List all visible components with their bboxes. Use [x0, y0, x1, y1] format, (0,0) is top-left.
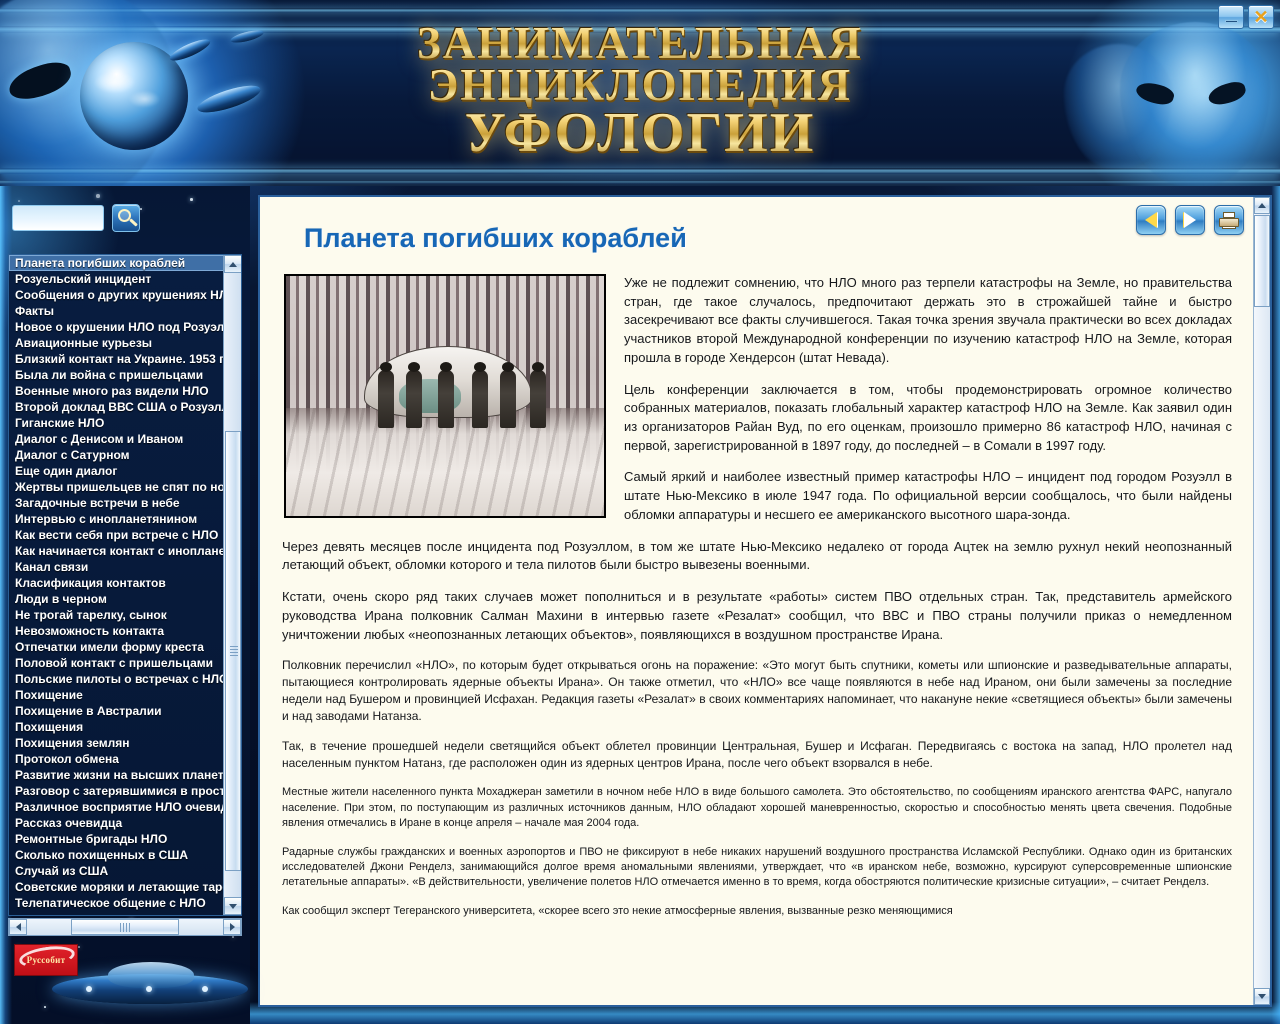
app-title: ЗАНИМАТЕЛЬНАЯ ЭНЦИКЛОПЕДИЯ УФОЛОГИИ — [0, 22, 1280, 159]
search-input[interactable] — [12, 205, 104, 231]
banner-stripe — [0, 168, 1280, 174]
topic-list-item[interactable]: Авиационные курьезы — [9, 335, 225, 351]
page-title: Планета погибших кораблей — [304, 223, 1232, 254]
star-decoration — [190, 198, 193, 201]
topic-list-item[interactable]: Польские пилоты о встречах с НЛО — [9, 671, 225, 687]
chevron-left-icon — [16, 923, 21, 931]
photo-person — [438, 370, 454, 428]
topic-list[interactable]: Планета погибших кораблейРозуельский инц… — [8, 254, 242, 916]
star-decoration — [232, 936, 234, 938]
hscroll-track[interactable] — [27, 919, 223, 935]
photo-person — [406, 370, 422, 428]
minimize-button[interactable] — [1218, 5, 1244, 29]
topic-list-items: Планета погибших кораблейРозуельский инц… — [9, 255, 225, 915]
chevron-right-icon — [230, 923, 235, 931]
article-paragraph: Радарные службы гражданских и военных аэ… — [282, 845, 1232, 891]
scroll-down-button[interactable] — [224, 897, 242, 915]
content-scroll-thumb[interactable] — [1254, 215, 1270, 307]
app-banner: ЗАНИМАТЕЛЬНАЯ ЭНЦИКЛОПЕДИЯ УФОЛОГИИ ✕ — [0, 0, 1280, 186]
topic-list-item[interactable]: Военные много раз видели НЛО — [9, 383, 225, 399]
article-photo — [284, 274, 606, 518]
content-scrollbar[interactable] — [1253, 197, 1270, 1005]
topic-list-item[interactable]: Невозможность контакта — [9, 623, 225, 639]
content-scroll-down-button[interactable] — [1254, 988, 1270, 1005]
magnifier-handle-icon — [129, 218, 138, 226]
topic-list-item[interactable]: Различное восприятие НЛО очевидцами — [9, 799, 225, 815]
topic-list-item[interactable]: Планета погибших кораблей — [9, 255, 225, 271]
topic-list-item[interactable]: Люди в черном — [9, 591, 225, 607]
star-decoration — [96, 194, 100, 198]
search-button[interactable] — [112, 204, 140, 232]
topic-list-item[interactable]: Диалог с Сатурном — [9, 447, 225, 463]
topic-list-item[interactable]: Разговор с затерявшимися в пространстве — [9, 783, 225, 799]
topic-list-item[interactable]: Не трогай тарелку, сынок — [9, 607, 225, 623]
topic-list-item[interactable]: Интервью с инопланетянином — [9, 511, 225, 527]
content-scroll-up-button[interactable] — [1254, 197, 1270, 214]
brand-logo[interactable]: Руссобит — [14, 944, 78, 976]
topic-list-item[interactable]: Розуельский инцидент — [9, 271, 225, 287]
minimize-icon — [1225, 20, 1238, 23]
star-decoration — [44, 1006, 46, 1008]
print-button[interactable] — [1214, 205, 1244, 235]
article-paragraph: Через девять месяцев после инцидента под… — [282, 538, 1232, 575]
app-title-line-3: УФОЛОГИИ — [0, 107, 1280, 160]
chevron-down-icon — [1258, 994, 1266, 999]
brand-logo-label: Руссобит — [27, 955, 66, 965]
topic-list-item[interactable]: Половой контакт с пришельцами — [9, 655, 225, 671]
close-button[interactable]: ✕ — [1248, 5, 1274, 29]
banner-stripe — [0, 8, 1280, 13]
topic-list-item[interactable]: Была ли война с пришельцами — [9, 367, 225, 383]
content-toolbar — [1136, 205, 1244, 235]
topic-list-item[interactable]: Класификация контактов — [9, 575, 225, 591]
scroll-grip-icon — [230, 646, 238, 656]
article-paragraph: Местные жители населенного пункта Мохадж… — [282, 785, 1232, 831]
scroll-left-button[interactable] — [9, 919, 27, 935]
arrow-right-icon — [1184, 212, 1196, 228]
arrow-left-icon — [1145, 212, 1157, 228]
article-paragraph: Кстати, очень скоро ряд таких случаев мо… — [282, 588, 1232, 644]
printer-icon — [1219, 212, 1239, 229]
topic-list-item[interactable]: Канал связи — [9, 559, 225, 575]
star-decoration — [78, 946, 80, 948]
article-paragraph: Как сообщил эксперт Тегеранского универс… — [282, 904, 1232, 919]
topic-list-item[interactable]: Отпечатки имели форму креста — [9, 639, 225, 655]
article-paragraph: Так, в течение прошедшей недели светящий… — [282, 738, 1232, 772]
chevron-down-icon — [229, 904, 237, 909]
topic-list-scrollbar[interactable] — [223, 255, 241, 915]
star-decoration — [210, 998, 212, 1000]
scroll-right-button[interactable] — [223, 919, 241, 935]
topic-list-item[interactable]: Ремонтные бригады НЛО — [9, 831, 225, 847]
scroll-thumb[interactable] — [225, 431, 241, 871]
topic-list-item[interactable]: Диалог с Денисом и Иваном — [9, 431, 225, 447]
topic-list-item[interactable]: Похищения землян — [9, 735, 225, 751]
topic-list-item[interactable]: Второй доклад ВВС США о Розуэлле — [9, 399, 225, 415]
forward-button[interactable] — [1175, 205, 1205, 235]
photo-person — [500, 370, 516, 428]
photo-person — [530, 370, 546, 428]
search-row — [12, 204, 140, 232]
topic-list-hscrollbar[interactable] — [8, 918, 242, 936]
topic-list-item[interactable]: Советские моряки и летающие тарелки — [9, 879, 225, 895]
photo-person — [472, 370, 488, 428]
chevron-up-icon — [1258, 203, 1266, 208]
topic-list-item[interactable]: Сколько похищенных в США — [9, 847, 225, 863]
hscroll-thumb[interactable] — [71, 919, 179, 935]
topic-list-item[interactable]: Еще один диалог — [9, 463, 225, 479]
banner-stripe — [0, 180, 1280, 184]
window-controls: ✕ — [1218, 5, 1274, 29]
back-button[interactable] — [1136, 205, 1166, 235]
star-decoration — [140, 208, 142, 210]
topic-list-item[interactable]: Новое о крушении НЛО под Розуэллом — [9, 319, 225, 335]
star-decoration — [18, 200, 20, 202]
topic-list-item[interactable]: Рассказ очевидца — [9, 815, 225, 831]
topic-list-item[interactable]: Как начинается контакт с инопланетянами — [9, 543, 225, 559]
topic-list-item[interactable]: Похищение — [9, 687, 225, 703]
photo-person — [378, 370, 394, 428]
topic-list-item[interactable]: Протокол обмена — [9, 751, 225, 767]
topic-list-item[interactable]: Похищение в Австралии — [9, 703, 225, 719]
app-title-line-2: ЭНЦИКЛОПЕДИЯ — [0, 64, 1280, 106]
star-decoration — [186, 976, 190, 980]
article-paragraph: Полковник перечислил «НЛО», по которым б… — [282, 657, 1232, 725]
topic-list-item[interactable]: Случай из США — [9, 863, 225, 879]
topic-list-item[interactable]: Близкий контакт на Украине. 1953 г. — [9, 351, 225, 367]
app-title-line-1: ЗАНИМАТЕЛЬНАЯ — [0, 22, 1280, 64]
topic-list-item[interactable]: Жертвы пришельцев не спят по ночам — [9, 479, 225, 495]
article: Планета погибших кораблей Уже не подлежи… — [260, 197, 1254, 1005]
content-panel: Планета погибших кораблей Уже не подлежи… — [258, 195, 1272, 1007]
topic-list-item[interactable]: Факты — [9, 303, 225, 319]
topic-list-item[interactable]: Сообщения о других крушениях НЛО — [9, 287, 225, 303]
topic-list-item[interactable]: Телепатическое общение с НЛО — [9, 895, 225, 911]
topic-list-item[interactable]: Загадочные встречи в небе — [9, 495, 225, 511]
topic-list-item[interactable]: Как вести себя при встрече с НЛО — [9, 527, 225, 543]
application-window: ЗАНИМАТЕЛЬНАЯ ЭНЦИКЛОПЕДИЯ УФОЛОГИИ ✕ Пл… — [0, 0, 1280, 1024]
topic-list-item[interactable]: Развитие жизни на высших планетах — [9, 767, 225, 783]
sidebar: Планета погибших кораблейРозуельский инц… — [0, 186, 250, 1024]
topic-list-item[interactable]: Похищения — [9, 719, 225, 735]
scroll-up-button[interactable] — [224, 255, 242, 273]
topic-list-item[interactable]: Гиганские НЛО — [9, 415, 225, 431]
close-icon: ✕ — [1249, 6, 1273, 28]
hscroll-grip-icon — [120, 923, 130, 932]
chevron-up-icon — [229, 262, 237, 267]
